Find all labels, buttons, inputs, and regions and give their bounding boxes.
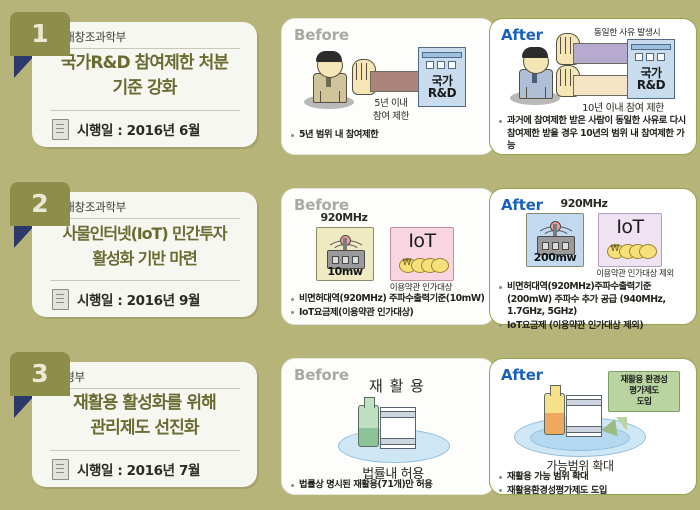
policy-row-3: 3 환경부 재활용 활성화를 위해 관리제도 선진화 시행일 : 2016년 7… — [0, 340, 700, 510]
before-bullets: 5년 범위 내 참여제한 — [290, 129, 488, 143]
after-bullets: 재활용 가능 범위 확대 재활용환경성평가제도 도입 — [498, 471, 690, 498]
after-top-caption: 동일한 사유 발생시 — [572, 25, 682, 38]
document-icon — [52, 459, 69, 480]
restriction-bar-upper — [573, 43, 629, 64]
after-bullets: 비면허대역(920MHz)주파수출력기준(200mW) 주파수 추가 공급 (9… — [498, 281, 690, 333]
national-rnd-doc: 국가 R&D — [627, 39, 675, 99]
bullet-item: 재활용 가능 범위 확대 — [498, 471, 690, 484]
policy-title-line2: 기준 강화 — [42, 76, 247, 101]
rnd-line2: R&D — [419, 86, 465, 100]
approval-caption: 이용약관 인가대상 제외 — [580, 267, 690, 279]
rnd-line2: R&D — [628, 78, 674, 92]
iot-fee-box: IoT — [390, 227, 454, 281]
policy-row-2: 2 미래창조과학부 사물인터넷(IoT) 민간투자 활성화 기반 마련 시행일 … — [0, 170, 700, 340]
policy-title-line1: 재활용 활성화를 위해 — [42, 391, 247, 416]
bullet-item: 과거에 참여제한 받은 사람이 동일한 사유로 다시 참여제한 받을 경우 10… — [498, 115, 690, 153]
after-panel: After 재활용 환경성 평가제도 도입 가능범위 확대 재활용 가능 범위 … — [489, 358, 697, 495]
bottle-icon — [358, 405, 379, 447]
policy-title: 재활용 활성화를 위해 관리제도 선진화 — [42, 391, 247, 441]
divider-top — [50, 388, 240, 389]
effective-date-text: 시행일 : 2016년 7월 — [77, 459, 200, 479]
after-label: After — [501, 366, 543, 384]
can-icon — [380, 407, 416, 449]
before-caption-2: 참여 제한 — [360, 108, 422, 122]
bullet-item: 비면허대역(920MHz) 주파수출력기준(10mW) — [290, 293, 488, 306]
person-figure — [510, 47, 560, 105]
bubble-line2: 평가제도 — [629, 386, 659, 396]
divider-bottom — [50, 110, 240, 111]
before-label: Before — [294, 366, 349, 384]
router-box: 200mw — [526, 213, 584, 267]
bullet-item: 비면허대역(920MHz)주파수출력기준(200mW) 주파수 추가 공급 (9… — [498, 281, 690, 319]
frequency-label: 920MHz — [304, 211, 384, 224]
effective-date: 시행일 : 2016년 6월 — [52, 116, 252, 142]
power-label: 200mw — [527, 251, 583, 264]
document-icon — [52, 289, 69, 310]
after-label: After — [501, 26, 543, 44]
infographic-page: 1 미래창조과학부 국가R&D 참여제한 처분 기준 강화 시행일 : 2016… — [0, 0, 700, 510]
document-icon — [52, 119, 69, 140]
after-panel: After 국가 R&D 동일한 사유 발생시 10년 이내 참여 제한 과거에… — [489, 18, 697, 155]
after-bullets: 과거에 참여제한 받은 사람이 동일한 사유로 다시 참여제한 받을 경우 10… — [498, 115, 690, 154]
person-figure — [304, 51, 354, 109]
policy-title: 국가R&D 참여제한 처분 기준 강화 — [42, 51, 247, 101]
before-label: Before — [294, 26, 349, 44]
row-number-badge: 1 — [10, 12, 70, 56]
bubble-line3: 도입 — [637, 397, 652, 407]
bullet-item: 법률상 명시된 재활용(71개)만 허용 — [290, 479, 488, 492]
row-number: 3 — [10, 354, 70, 394]
bullet-item: 5년 범위 내 참여제한 — [290, 129, 488, 142]
bullet-item: IoT요금제 (이용약관 인가대상 제외) — [498, 320, 690, 333]
policy-title-line2: 관리제도 선진화 — [42, 416, 247, 441]
row-number-badge: 3 — [10, 352, 70, 396]
after-panel: After 920MHz 200mw IoT 이용약관 인가대상 제외 비면허대… — [489, 188, 697, 325]
divider-bottom — [50, 450, 240, 451]
policy-title-line1: 사물인터넷(IoT) 민간투자 — [42, 221, 247, 246]
bubble-line1: 재활용 환경성 — [621, 375, 668, 385]
bottle-icon — [544, 393, 565, 435]
approval-caption: 이용약관 인가대상 — [378, 281, 464, 293]
router-box: 10mw — [316, 227, 374, 281]
effective-date-text: 시행일 : 2016년 6월 — [77, 119, 200, 139]
after-caption: 10년 이내 참여 제한 — [558, 99, 688, 114]
restriction-bar — [370, 71, 420, 92]
before-panel: Before 국가 R&D 5년 이내 참여 제한 5년 범위 내 참여제한 — [281, 18, 495, 155]
row-number: 2 — [10, 184, 70, 224]
before-caption-1: 5년 이내 — [360, 95, 422, 109]
divider-bottom — [50, 280, 240, 281]
policy-title-line2: 활성화 기반 마련 — [42, 246, 247, 271]
divider-top — [50, 218, 240, 219]
before-panel: Before 920MHz 10mw IoT 이용약관 인가대상 비면허대역(9… — [281, 188, 495, 325]
speech-bubble: 재활용 환경성 평가제도 도입 — [608, 371, 680, 412]
iot-label: IoT — [391, 230, 453, 252]
divider-top — [50, 48, 240, 49]
bullet-item: IoT요금제(이용약관 인가대상) — [290, 307, 488, 320]
before-panel: Before 재 활 용 법률내 허용 법률상 명시된 재활용(71개)만 허용 — [281, 358, 495, 495]
effective-date-text: 시행일 : 2016년 9월 — [77, 289, 200, 309]
iot-label: IoT — [599, 216, 661, 238]
iot-fee-box: IoT — [598, 213, 662, 267]
row-number: 1 — [10, 14, 70, 54]
restriction-bar-lower — [573, 75, 629, 96]
before-bullets: 비면허대역(920MHz) 주파수출력기준(10mW) IoT요금제(이용약관 … — [290, 293, 488, 320]
policy-title-line1: 국가R&D 참여제한 처분 — [42, 51, 247, 76]
effective-date: 시행일 : 2016년 9월 — [52, 286, 252, 312]
policy-row-1: 1 미래창조과학부 국가R&D 참여제한 처분 기준 강화 시행일 : 2016… — [0, 0, 700, 170]
effective-date: 시행일 : 2016년 7월 — [52, 456, 252, 482]
after-label: After — [501, 196, 543, 214]
power-label: 10mw — [317, 265, 373, 278]
can-icon — [566, 395, 602, 437]
frequency-label: 920MHz — [544, 197, 624, 210]
before-bullets: 법률상 명시된 재활용(71개)만 허용 — [290, 479, 488, 493]
recycle-heading: 재 활 용 — [342, 375, 452, 396]
row-number-badge: 2 — [10, 182, 70, 226]
bullet-item: 재활용환경성평가제도 도입 — [498, 485, 690, 498]
national-rnd-doc: 국가 R&D — [418, 47, 466, 107]
policy-title: 사물인터넷(IoT) 민간투자 활성화 기반 마련 — [42, 221, 247, 271]
